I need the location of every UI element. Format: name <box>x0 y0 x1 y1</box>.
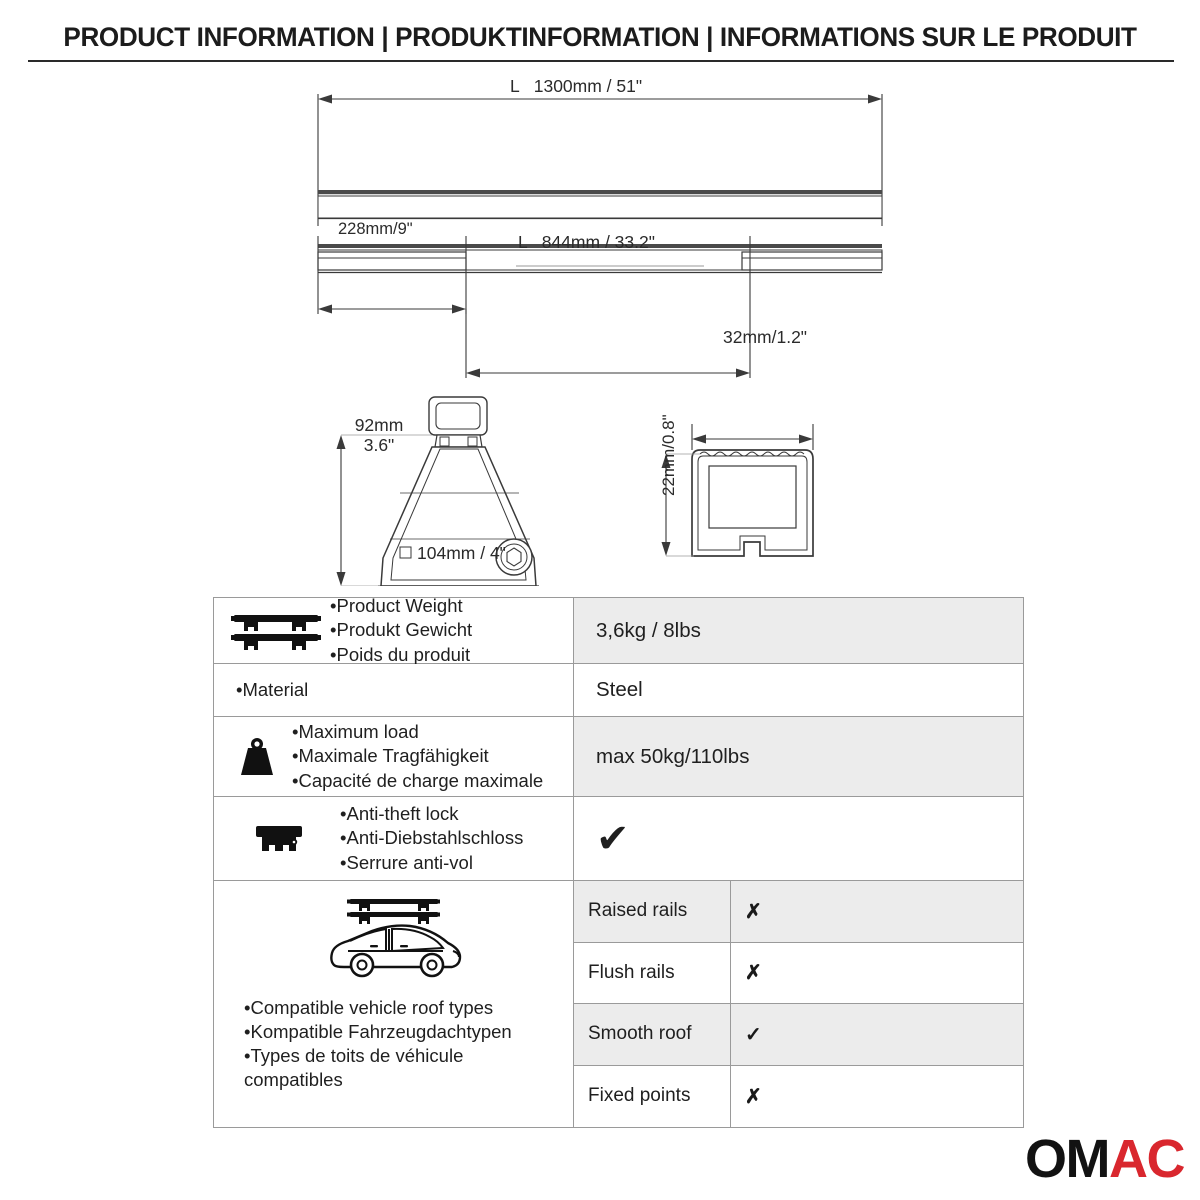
title-divider <box>28 60 1174 62</box>
label-en: •Maximum load <box>292 720 573 744</box>
lock-icon <box>222 821 340 857</box>
roof-bars-icon <box>222 610 330 652</box>
table-row-roof-types: •Compatible vehicle roof types •Kompatib… <box>214 881 1023 1127</box>
roof-option-raised-rails: Raised rails ✗ <box>574 881 1023 943</box>
product-information-page: PRODUCT INFORMATION | PRODUKTINFORMATION… <box>0 0 1200 1200</box>
roof-labels: •Compatible vehicle roof types •Kompatib… <box>214 996 573 1092</box>
row-labels: •Anti-theft lock •Anti-Diebstahlschloss … <box>340 802 573 874</box>
row-value: Steel <box>574 664 1023 716</box>
check-mark: ✔ <box>596 819 630 859</box>
label-en: •Material <box>236 678 573 702</box>
label-fr-cont: compatibles <box>244 1068 573 1092</box>
row-value: ✔ <box>574 797 1023 880</box>
omac-logo: OMAC <box>1025 1132 1184 1186</box>
weight-icon <box>222 733 292 781</box>
roof-option-mark: ✗ <box>731 1066 1023 1128</box>
label-fr: •Poids du produit <box>330 643 573 667</box>
car-with-rack-icon <box>314 893 474 990</box>
label-en: •Product Weight <box>330 594 573 618</box>
foot-height-in: 3.6" <box>348 436 410 456</box>
label-de: •Produkt Gewicht <box>330 618 573 642</box>
foot-height-mm: 92mm <box>348 416 410 436</box>
label-fr: •Types de toits de véhicule <box>244 1044 573 1068</box>
label-en: •Anti-theft lock <box>340 802 573 826</box>
logo-text-red: AC <box>1109 1129 1184 1189</box>
logo-text-dark: OM <box>1025 1129 1109 1189</box>
row-labels: •Material <box>222 678 573 702</box>
roof-option-mark: ✓ <box>731 1004 1023 1065</box>
roof-option-label: Smooth roof <box>574 1004 731 1065</box>
row-label-cell: •Product Weight •Produkt Gewicht •Poids … <box>214 598 574 663</box>
specification-table: •Product Weight •Produkt Gewicht •Poids … <box>213 597 1024 1128</box>
roof-option-label: Flush rails <box>574 943 731 1004</box>
page-title-wrap: PRODUCT INFORMATION | PRODUKTINFORMATION… <box>0 22 1200 53</box>
span-dim: L844mm / 33.2" <box>518 232 655 253</box>
technical-drawing: L1300mm / 51" 228mm/9" L844mm / 33.2" 92… <box>0 66 1200 586</box>
profile-width-dim: 32mm/1.2" <box>723 327 807 348</box>
row-label-cell: •Maximum load •Maximale Tragfähigkeit •C… <box>214 717 574 796</box>
row-value: max 50kg/110lbs <box>574 717 1023 796</box>
row-label-cell: •Material <box>214 664 574 716</box>
table-row: •Maximum load •Maximale Tragfähigkeit •C… <box>214 717 1023 797</box>
profile-height-dim: 22mm/0.8" <box>659 414 679 496</box>
foot-width-dim: 104mm / 4" <box>417 543 506 564</box>
drawing-svg <box>0 66 1200 586</box>
table-row: •Material Steel <box>214 664 1023 717</box>
row-label-cell: •Anti-theft lock •Anti-Diebstahlschloss … <box>214 797 574 880</box>
label-de: •Maximale Tragfähigkeit <box>292 744 573 768</box>
roof-option-mark: ✗ <box>731 881 1023 942</box>
label-fr: •Serrure anti-vol <box>340 851 573 875</box>
roof-option-label: Fixed points <box>574 1066 731 1128</box>
roof-option-flush-rails: Flush rails ✗ <box>574 943 1023 1005</box>
row-labels: •Product Weight •Produkt Gewicht •Poids … <box>330 594 573 666</box>
foot-offset-dim: 228mm/9" <box>338 220 413 239</box>
row-labels: •Maximum load •Maximale Tragfähigkeit •C… <box>292 720 573 792</box>
label-en: •Compatible vehicle roof types <box>244 996 573 1020</box>
foot-height-dim: 92mm 3.6" <box>348 416 410 455</box>
table-row: •Product Weight •Produkt Gewicht •Poids … <box>214 598 1023 664</box>
bar-length-dim: L1300mm / 51" <box>510 76 642 97</box>
row-value: 3,6kg / 8lbs <box>574 598 1023 663</box>
label-fr: •Capacité de charge maximale <box>292 769 573 793</box>
roof-label-cell: •Compatible vehicle roof types •Kompatib… <box>214 881 574 1127</box>
roof-option-mark: ✗ <box>731 943 1023 1004</box>
roof-option-fixed-points: Fixed points ✗ <box>574 1066 1023 1128</box>
roof-option-smooth-roof: Smooth roof ✓ <box>574 1004 1023 1066</box>
label-de: •Anti-Diebstahlschloss <box>340 826 573 850</box>
roof-option-label: Raised rails <box>574 881 731 942</box>
label-de: •Kompatible Fahrzeugdachtypen <box>244 1020 573 1044</box>
page-title: PRODUCT INFORMATION | PRODUKTINFORMATION… <box>9 22 1191 53</box>
roof-options-table: Raised rails ✗ Flush rails ✗ Smooth roof… <box>574 881 1023 1127</box>
table-row: •Anti-theft lock •Anti-Diebstahlschloss … <box>214 797 1023 881</box>
